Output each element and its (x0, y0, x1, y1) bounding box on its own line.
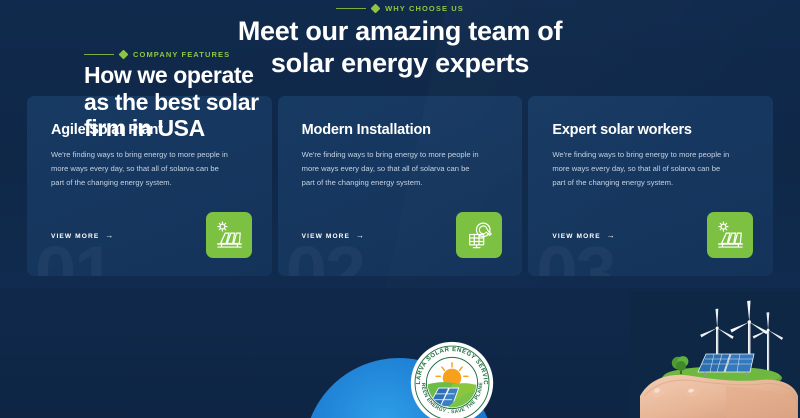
hand-holding-renewables-image (630, 292, 800, 418)
why-choose-us-section: WHY CHOOSE US Meet our amazing team of s… (0, 0, 800, 288)
card-watermark-number: 03 (536, 236, 614, 276)
eyebrow-company-features: COMPANY FEATURES (84, 50, 230, 59)
page-root: WHY CHOOSE US Meet our amazing team of s… (0, 0, 800, 418)
card-description: We're finding ways to bring energy to mo… (552, 148, 734, 190)
page-title-line-1: Meet our amazing team of (0, 16, 800, 48)
arrow-right-icon: → (356, 232, 365, 240)
eyebrow-diamond-icon (119, 50, 129, 60)
company-features-title-line-3: firm in USA (84, 115, 344, 142)
solarva-seal-badge: SOLARVA SOLAR ENEGY SERVICES GREEN ENERG… (410, 341, 494, 418)
card-description: We're finding ways to bring energy to mo… (302, 148, 484, 190)
solar-panel-sun-icon (715, 220, 745, 250)
card-title: Expert solar workers (552, 122, 753, 138)
eyebrow-label: WHY CHOOSE US (385, 4, 464, 13)
view-more-label: VIEW MORE (51, 233, 99, 240)
card-icon-badge (707, 212, 753, 258)
view-more-link[interactable]: VIEW MORE → (302, 232, 365, 240)
eyebrow-diamond-icon (371, 4, 381, 14)
card-icon-badge (206, 212, 252, 258)
view-more-link[interactable]: VIEW MORE → (552, 232, 615, 240)
company-features-title: How we operate as the best solar firm in… (84, 62, 344, 142)
arrow-right-icon: → (607, 232, 616, 240)
eyebrow-label: COMPANY FEATURES (133, 50, 230, 59)
eyebrow-rule-icon (84, 54, 114, 55)
solar-panel-sun-icon (214, 220, 244, 250)
card-description: We're finding ways to bring energy to mo… (51, 148, 233, 190)
eyebrow-why-choose-us: WHY CHOOSE US (0, 4, 800, 13)
view-more-label: VIEW MORE (552, 233, 600, 240)
company-features-title-line-1: How we operate (84, 62, 344, 89)
view-more-link[interactable]: VIEW MORE → (51, 232, 114, 240)
card-watermark-number: 02 (286, 236, 364, 276)
arrow-right-icon: → (105, 232, 114, 240)
card-watermark-number: 01 (35, 236, 113, 276)
company-features-title-line-2: as the best solar (84, 89, 344, 116)
solar-panel-wrench-icon (464, 220, 494, 250)
card-icon-badge (456, 212, 502, 258)
view-more-label: VIEW MORE (302, 233, 350, 240)
eyebrow-rule-icon (336, 8, 366, 9)
feature-card[interactable]: 03 Expert solar workers We're finding wa… (528, 96, 773, 276)
